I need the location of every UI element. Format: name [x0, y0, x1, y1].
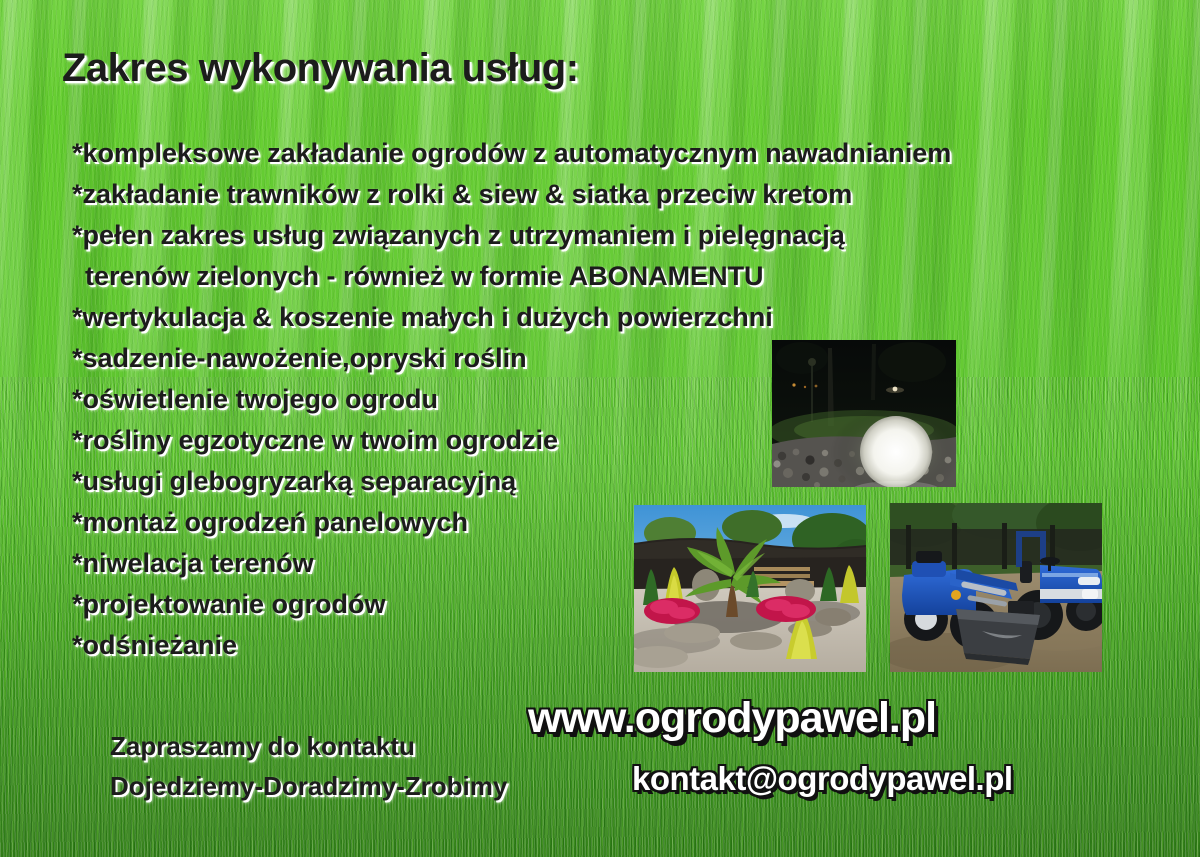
contact-invite-line: Zapraszamy do kontaktu [110, 726, 507, 766]
list-item-continuation: terenów zielonych - również w formie ABO… [72, 256, 1162, 297]
contact-slogan-line: Dojedziemy-Doradzimy-Zrobimy [110, 766, 507, 806]
list-item: *projektowanie ogrodów [72, 584, 1162, 625]
website-link[interactable]: www.ogrodypawel.pl [528, 694, 936, 743]
services-list: *kompleksowe zakładanie ogrodów z automa… [72, 133, 1162, 666]
list-item: *rośliny egzotyczne w twoim ogrodzie [72, 420, 1162, 461]
list-item: *wertykulacja & koszenie małych i dużych… [72, 297, 1162, 338]
contact-block: Zapraszamy do kontaktu Dojedziemy-Doradz… [110, 726, 507, 806]
page-title: Zakres wykonywania usług: [62, 46, 579, 91]
list-item: *zakładanie trawników z rolki & siew & s… [72, 174, 1162, 215]
list-item: *usługi glebogryzarką separacyjną [72, 461, 1162, 502]
email-link[interactable]: kontakt@ogrodypawel.pl [632, 760, 1013, 798]
list-item: *kompleksowe zakładanie ogrodów z automa… [72, 133, 1162, 174]
list-item: *odśnieżanie [72, 625, 1162, 666]
list-item: *pełen zakres usług związanych z utrzyma… [72, 215, 1162, 256]
list-item: *oświetlenie twojego ogrodu [72, 379, 1162, 420]
list-item: *niwelacja terenów [72, 543, 1162, 584]
advert-poster: Zakres wykonywania usług: *kompleksowe z… [0, 0, 1200, 857]
poster-text-layer: Zakres wykonywania usług: *kompleksowe z… [0, 0, 1200, 857]
list-item: *montaż ogrodzeń panelowych [72, 502, 1162, 543]
list-item: *sadzenie-nawożenie,opryski roślin [72, 338, 1162, 379]
